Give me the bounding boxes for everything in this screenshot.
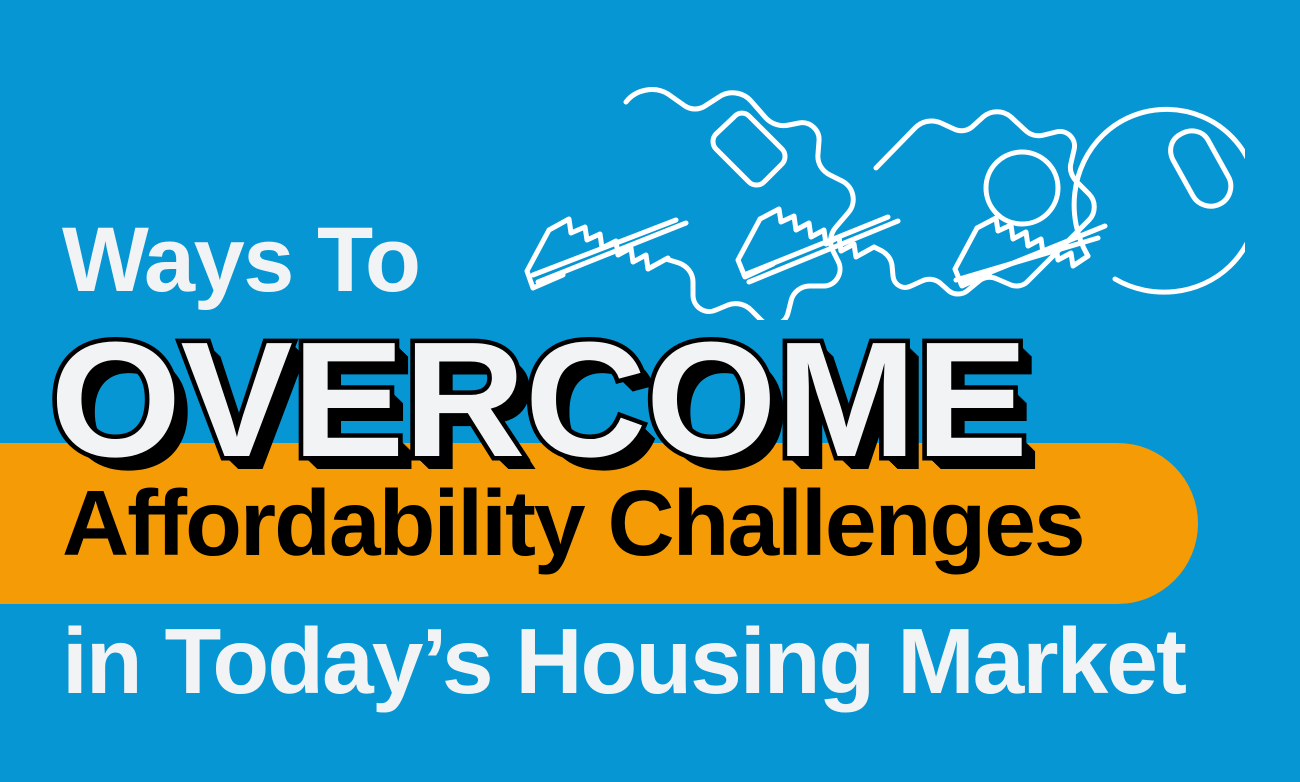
headline-line-ways-to: Ways To [62,212,420,308]
headline-stack: Ways To OVERCOME Affordability Challenge… [0,0,1300,782]
poster-canvas: Ways To OVERCOME Affordability Challenge… [0,0,1300,782]
headline-line-affordability-challenges: Affordability Challenges [62,474,1084,572]
headline-line-overcome: OVERCOME [50,318,1027,482]
headline-line-in-todays-housing-market: in Today’s Housing Market [62,612,1185,710]
